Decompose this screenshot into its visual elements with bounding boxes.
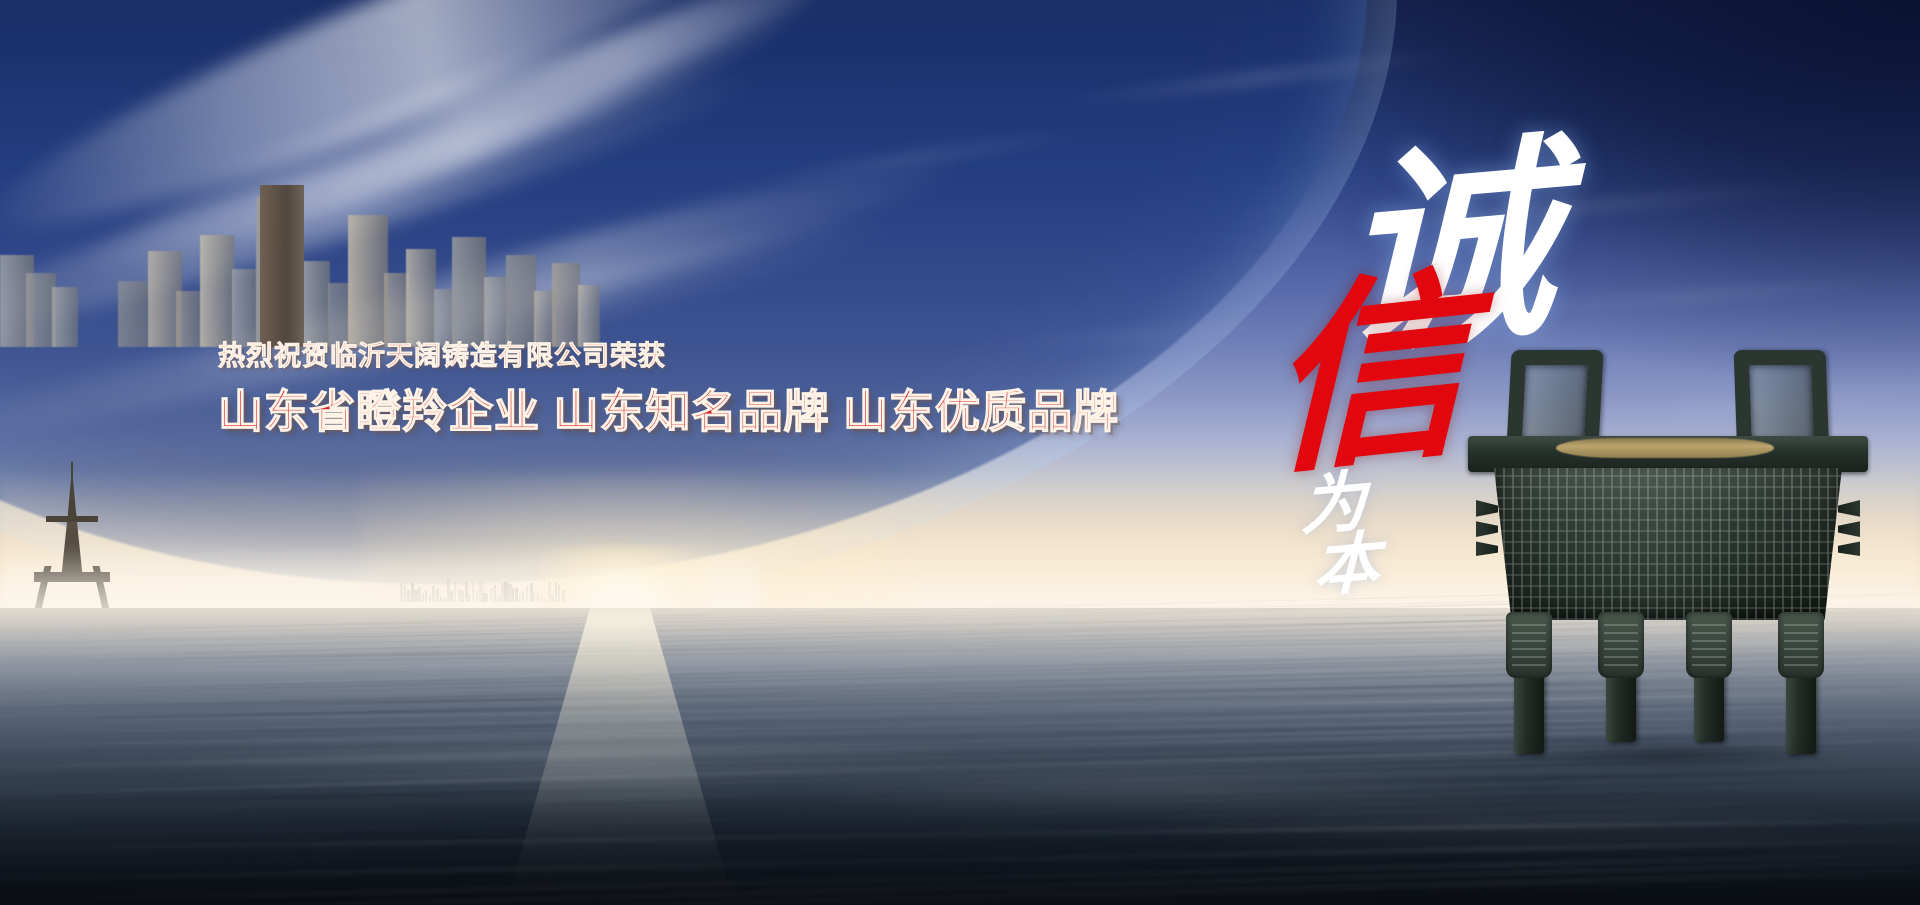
ding-flange-left [1476,500,1498,556]
skyline-building [506,255,536,347]
skyline-building [452,237,486,347]
ding-leg [1606,612,1636,742]
skyline-building [300,261,330,347]
calligraphy-weiben: 为 本 [1299,466,1381,604]
headline-line-1: 热烈祝贺临沂天阔铸造有限公司荣获 [218,340,1268,372]
headline-block: 热烈祝贺临沂天阔铸造有限公司荣获 山东省瞪羚企业 山东知名品牌 山东优质品牌 [218,340,1268,438]
ding-inscription-texture [1494,468,1842,620]
ding-shadow [1498,742,1838,768]
skyline-building [552,263,580,347]
ding-flange-right [1838,500,1860,556]
skyline-building [200,235,234,347]
skyline-building [348,215,388,347]
skyline-building [176,291,202,347]
skyline-tower [260,185,304,347]
ding-mouth [1556,438,1774,458]
skyline-building [578,285,600,347]
calligraphy-ben: 本 [1313,528,1380,602]
skyline-building [406,249,436,347]
calligraphy-xin: 信 [1269,264,1468,486]
banner-image: 热烈祝贺临沂天阔铸造有限公司荣获 山东省瞪羚企业 山东知名品牌 山东优质品牌 诚… [0,0,1920,905]
ding-leg [1514,612,1544,754]
bronze-ding-vessel [1468,350,1868,760]
ocean-shadow [0,790,1920,905]
skyline-building [52,287,78,347]
skyline-building [232,269,258,347]
headline-line-2: 山东省瞪羚企业 山东知名品牌 山东优质品牌 [218,385,1268,438]
city-skyline [0,0,620,640]
ding-leg [1694,612,1724,742]
skyline-building [118,281,148,347]
ding-body [1494,468,1842,620]
ding-leg [1786,612,1816,754]
